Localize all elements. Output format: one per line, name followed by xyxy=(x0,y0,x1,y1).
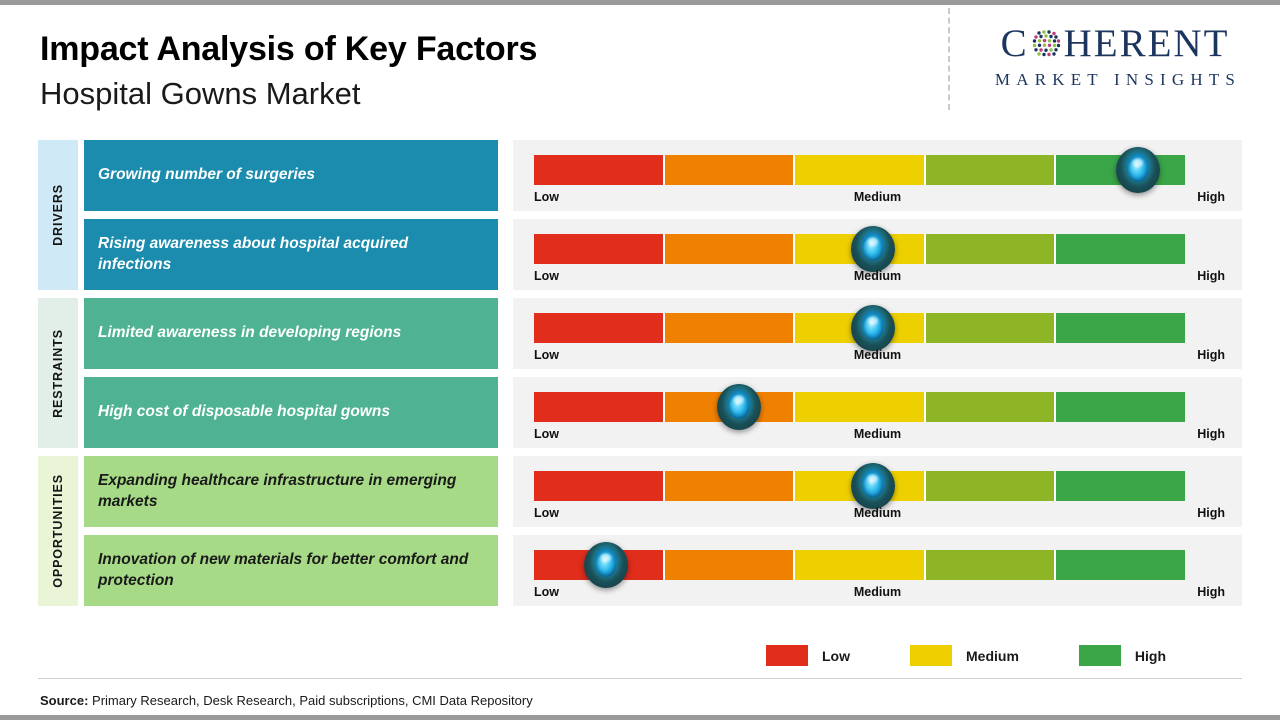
legend-item-low: Low xyxy=(766,645,850,666)
group-restraints: RESTRAINTS Limited awareness in developi… xyxy=(38,298,1242,448)
top-border-rule xyxy=(0,0,1280,5)
segment-medium-high xyxy=(926,392,1057,422)
gauge-scale: Low Medium High xyxy=(513,506,1242,524)
bottom-border-rule xyxy=(0,715,1280,720)
legend: Low Medium High xyxy=(766,645,1166,666)
dotted-globe-icon xyxy=(1030,27,1063,60)
page-header: Impact Analysis of Key Factors Hospital … xyxy=(40,30,537,112)
factor-box: Limited awareness in developing regions xyxy=(84,298,498,369)
footer-divider xyxy=(38,678,1242,679)
gauge-scale: Low Medium High xyxy=(513,585,1242,603)
gauge-bar xyxy=(534,155,1185,185)
impact-marker[interactable] xyxy=(851,463,895,509)
impact-gauge: Low Medium High xyxy=(513,298,1242,369)
segment-medium xyxy=(795,550,926,580)
gauge-scale: Low Medium High xyxy=(513,269,1242,287)
impact-gauge: Low Medium High xyxy=(513,456,1242,527)
scale-medium-label: Medium xyxy=(513,585,1242,599)
segment-low xyxy=(534,313,665,343)
impact-marker[interactable] xyxy=(851,305,895,351)
logo-letters-herent: HERENT xyxy=(1064,24,1230,63)
header-dashed-divider xyxy=(948,8,950,110)
source-label: Source: xyxy=(40,693,88,708)
page-title: Impact Analysis of Key Factors xyxy=(40,30,537,69)
scale-medium-label: Medium xyxy=(513,348,1242,362)
impact-row: Rising awareness about hospital acquired… xyxy=(84,219,1242,290)
legend-label-high: High xyxy=(1135,648,1166,664)
scale-high-label: High xyxy=(1197,506,1225,520)
segment-low xyxy=(534,471,665,501)
segment-low-medium xyxy=(665,313,796,343)
impact-gauge: Low Medium High xyxy=(513,377,1242,448)
impact-row: High cost of disposable hospital gowns L… xyxy=(84,377,1242,448)
source-text: Primary Research, Desk Research, Paid su… xyxy=(88,693,532,708)
impact-marker[interactable] xyxy=(851,226,895,272)
scale-medium-label: Medium xyxy=(513,269,1242,283)
impact-row: Limited awareness in developing regions … xyxy=(84,298,1242,369)
source-note: Source: Primary Research, Desk Research,… xyxy=(40,693,533,708)
factor-box: Expanding healthcare infrastructure in e… xyxy=(84,456,498,527)
gauge-scale: Low Medium High xyxy=(513,190,1242,208)
category-label-drivers: DRIVERS xyxy=(38,140,78,290)
category-label-opportunities: OPPORTUNITIES xyxy=(38,456,78,606)
segment-low-medium xyxy=(665,234,796,264)
rows-opportunities: Expanding healthcare infrastructure in e… xyxy=(84,456,1242,606)
factor-box: High cost of disposable hospital gowns xyxy=(84,377,498,448)
segment-medium-high xyxy=(926,471,1057,501)
legend-swatch-low xyxy=(766,645,808,666)
logo-letter-c: C xyxy=(1001,24,1029,63)
segment-low xyxy=(534,234,665,264)
segment-low xyxy=(534,155,665,185)
scale-high-label: High xyxy=(1197,190,1225,204)
legend-swatch-high xyxy=(1079,645,1121,666)
legend-label-medium: Medium xyxy=(966,648,1019,664)
impact-row: Expanding healthcare infrastructure in e… xyxy=(84,456,1242,527)
legend-swatch-medium xyxy=(910,645,952,666)
scale-high-label: High xyxy=(1197,585,1225,599)
gauge-scale: Low Medium High xyxy=(513,427,1242,445)
company-logo: C xyxy=(965,24,1265,90)
segment-medium-high xyxy=(926,234,1057,264)
segment-low-medium xyxy=(665,550,796,580)
factor-box: Growing number of surgeries xyxy=(84,140,498,211)
impact-row: Innovation of new materials for better c… xyxy=(84,535,1242,606)
segment-low-medium xyxy=(665,471,796,501)
legend-item-high: High xyxy=(1079,645,1166,666)
scale-high-label: High xyxy=(1197,269,1225,283)
segment-medium-high xyxy=(926,313,1057,343)
scale-medium-label: Medium xyxy=(513,190,1242,204)
impact-board: DRIVERS Growing number of surgeries Low xyxy=(38,140,1242,606)
logo-wordmark-bottom: MARKET INSIGHTS xyxy=(965,70,1265,90)
group-drivers: DRIVERS Growing number of surgeries Low xyxy=(38,140,1242,290)
segment-high xyxy=(1056,313,1185,343)
page-subtitle: Hospital Gowns Market xyxy=(40,75,537,112)
segment-medium-high xyxy=(926,550,1057,580)
scale-high-label: High xyxy=(1197,427,1225,441)
impact-gauge: Low Medium High xyxy=(513,219,1242,290)
scale-high-label: High xyxy=(1197,348,1225,362)
segment-high xyxy=(1056,234,1185,264)
segment-high xyxy=(1056,392,1185,422)
impact-gauge: Low Medium High xyxy=(513,535,1242,606)
factor-box: Rising awareness about hospital acquired… xyxy=(84,219,498,290)
logo-wordmark-top: C xyxy=(965,24,1265,63)
impact-marker[interactable] xyxy=(584,542,628,588)
gauge-scale: Low Medium High xyxy=(513,348,1242,366)
segment-low-medium xyxy=(665,155,796,185)
segment-medium-high xyxy=(926,155,1057,185)
segment-medium xyxy=(795,155,926,185)
impact-marker[interactable] xyxy=(717,384,761,430)
scale-medium-label: Medium xyxy=(513,506,1242,520)
gauge-bar xyxy=(534,392,1185,422)
impact-marker[interactable] xyxy=(1116,147,1160,193)
category-label-restraints: RESTRAINTS xyxy=(38,298,78,448)
rows-restraints: Limited awareness in developing regions … xyxy=(84,298,1242,448)
segment-high xyxy=(1056,471,1185,501)
impact-row: Growing number of surgeries Low Medium H… xyxy=(84,140,1242,211)
impact-gauge: Low Medium High xyxy=(513,140,1242,211)
segment-medium xyxy=(795,392,926,422)
scale-medium-label: Medium xyxy=(513,427,1242,441)
gauge-bar xyxy=(534,550,1185,580)
group-opportunities: OPPORTUNITIES Expanding healthcare infra… xyxy=(38,456,1242,606)
legend-item-medium: Medium xyxy=(910,645,1019,666)
segment-low xyxy=(534,392,665,422)
factor-box: Innovation of new materials for better c… xyxy=(84,535,498,606)
segment-high xyxy=(1056,550,1185,580)
legend-label-low: Low xyxy=(822,648,850,664)
rows-drivers: Growing number of surgeries Low Medium H… xyxy=(84,140,1242,290)
